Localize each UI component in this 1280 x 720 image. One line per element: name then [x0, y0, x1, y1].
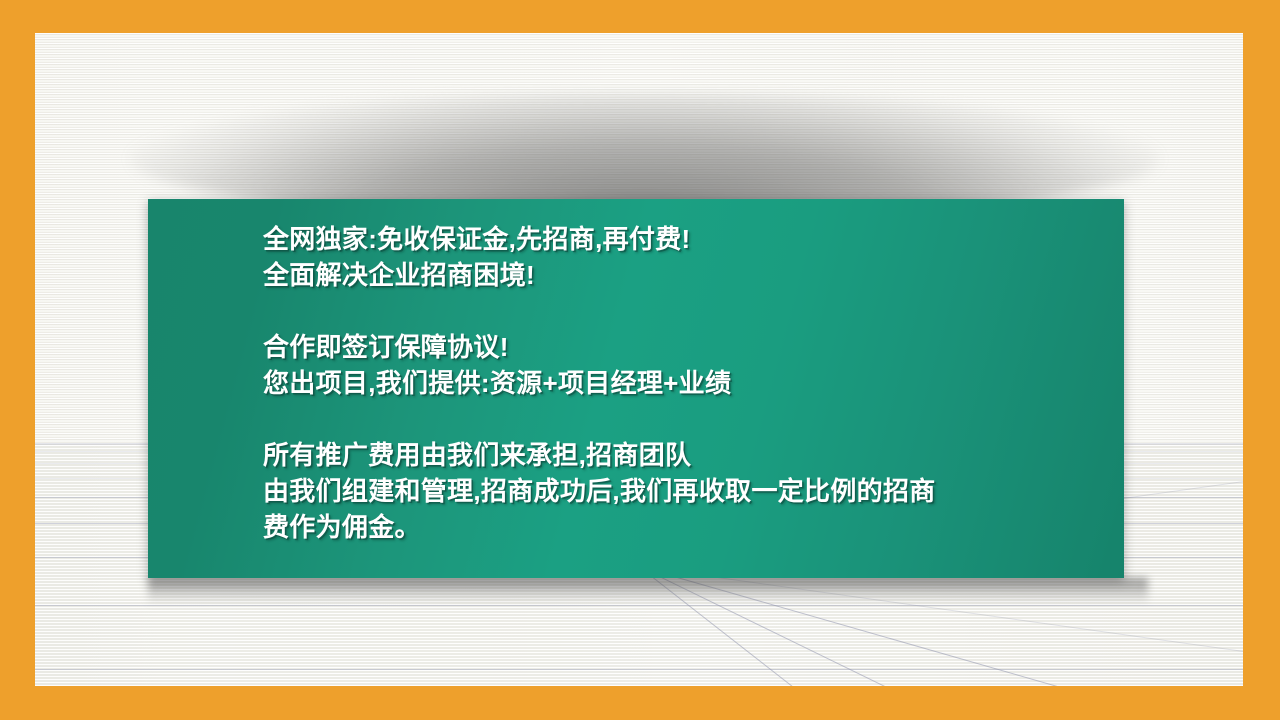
room-stage: 全网独家:免收保证金,先招商,再付费! 全面解决企业招商困境! 合作即签订保障协…: [35, 33, 1243, 686]
panel-drop-shadow-bottom: [148, 578, 1148, 604]
content-panel: 全网独家:免收保证金,先招商,再付费! 全面解决企业招商困境! 合作即签订保障协…: [148, 199, 1124, 578]
offer-line-2: 您出项目,我们提供:资源+项目经理+业绩: [263, 365, 1106, 401]
slide-root: 全网独家:免收保证金,先招商,再付费! 全面解决企业招商困境! 合作即签订保障协…: [0, 0, 1280, 720]
floor-seam-h: [35, 669, 1243, 670]
panel-text-body: 全网独家:免收保证金,先招商,再付费! 全面解决企业招商困境! 合作即签订保障协…: [263, 221, 1106, 545]
terms-line-1: 所有推广费用由我们来承担,招商团队: [263, 437, 1106, 473]
paragraph-spacer: [263, 401, 1106, 437]
headline-line-2: 全面解决企业招商困境!: [263, 257, 1106, 293]
terms-line-3: 费作为佣金。: [263, 509, 1106, 545]
paragraph-spacer: [263, 293, 1106, 329]
offer-line-1: 合作即签订保障协议!: [263, 329, 1106, 365]
floor-seam-h: [35, 605, 1243, 606]
terms-line-2: 由我们组建和管理,招商成功后,我们再收取一定比例的招商: [263, 473, 1106, 509]
headline-line-1: 全网独家:免收保证金,先招商,再付费!: [263, 221, 1106, 257]
